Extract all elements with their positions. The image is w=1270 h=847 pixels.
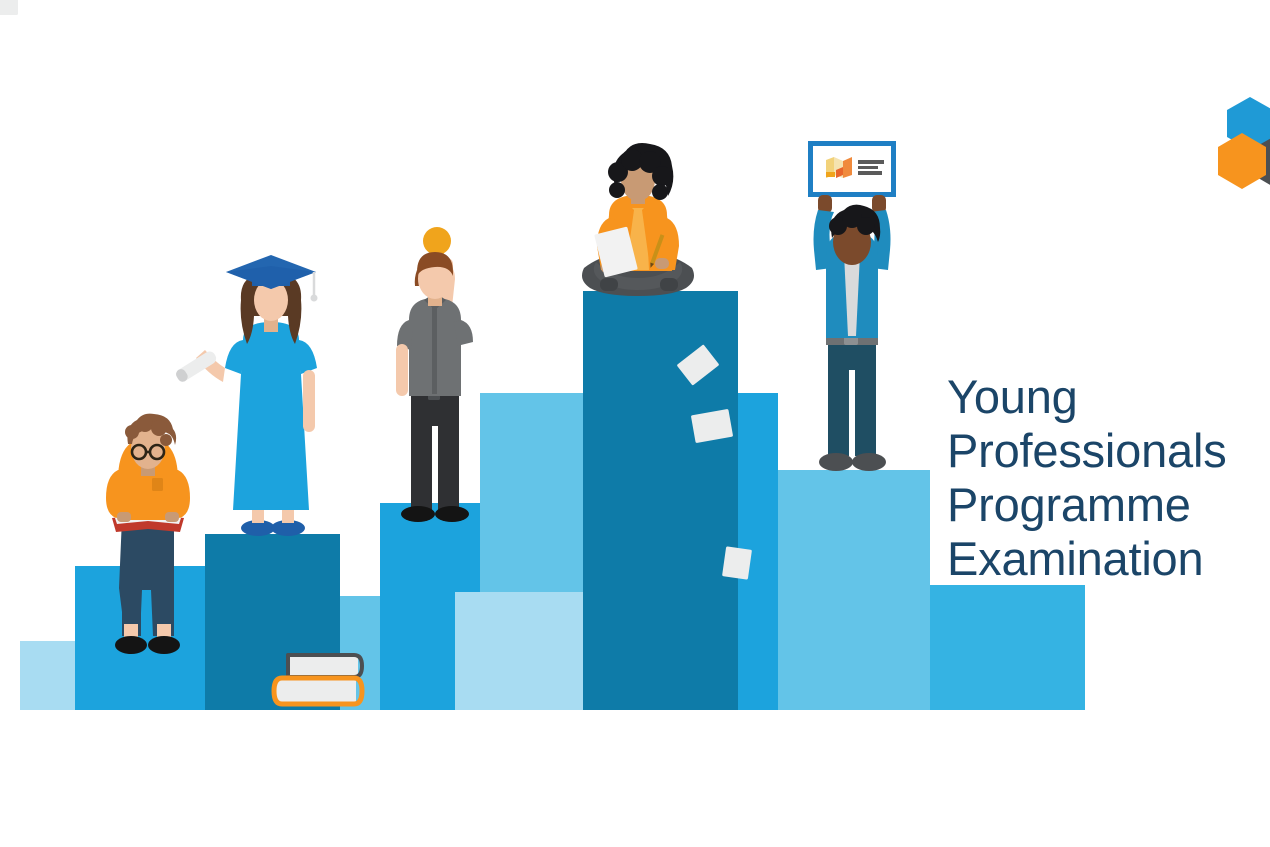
hexagon-decoration (1218, 97, 1270, 189)
studying-hair-curl (652, 184, 668, 200)
graduate-figure (174, 255, 317, 536)
reader-hand-right (165, 512, 179, 522)
studying-hand-right (655, 258, 669, 269)
idea-figure (396, 227, 473, 522)
certificate-sign (808, 141, 896, 197)
idea-shoe-right (435, 506, 469, 522)
reader-hand-left (117, 512, 131, 522)
reader-ankle-right (157, 624, 171, 638)
bar-6 (455, 592, 585, 710)
bar-10 (778, 470, 930, 710)
award-leg-right (855, 342, 876, 456)
award-hair-curl (857, 217, 875, 235)
book-top (288, 655, 362, 677)
award-shoe-left (819, 453, 853, 471)
idea-leg-left (411, 398, 432, 510)
graduate-arm-right (303, 370, 315, 432)
studying-hair-curl (609, 182, 625, 198)
award-winner-figure (808, 141, 896, 471)
bar-11 (930, 585, 1085, 710)
reader-shoe-left (115, 636, 147, 654)
idea-arm-left (396, 344, 408, 396)
reader-pocket (152, 478, 163, 491)
stacked-books (274, 655, 362, 704)
idea-shoe-left (401, 506, 435, 522)
book-bottom (274, 678, 362, 704)
reader-shoe-right (148, 636, 180, 654)
reader-ankle-left (124, 624, 138, 638)
idea-leg-right (438, 398, 459, 510)
reader-hair-curl (151, 420, 167, 436)
reader-hair-curl (160, 434, 172, 446)
poster-canvas: Young Professionals Programme Examinatio… (0, 0, 1270, 847)
studying-foot-left (600, 278, 618, 291)
illustration-artboard (0, 0, 1270, 847)
award-shoe-right (852, 453, 886, 471)
reader-hair-curl (137, 416, 153, 432)
paper-sheet (722, 546, 752, 579)
studying-foot-right (660, 278, 678, 291)
bar-8 (583, 291, 738, 710)
award-leg-left (828, 342, 849, 456)
studying-hair-curl (652, 166, 672, 186)
paper-sheet (0, 0, 18, 15)
studying-figure (582, 143, 694, 296)
reader-hair-curl (125, 425, 139, 439)
certificate-logo (826, 157, 852, 178)
idea-shirt-placket (432, 302, 437, 394)
